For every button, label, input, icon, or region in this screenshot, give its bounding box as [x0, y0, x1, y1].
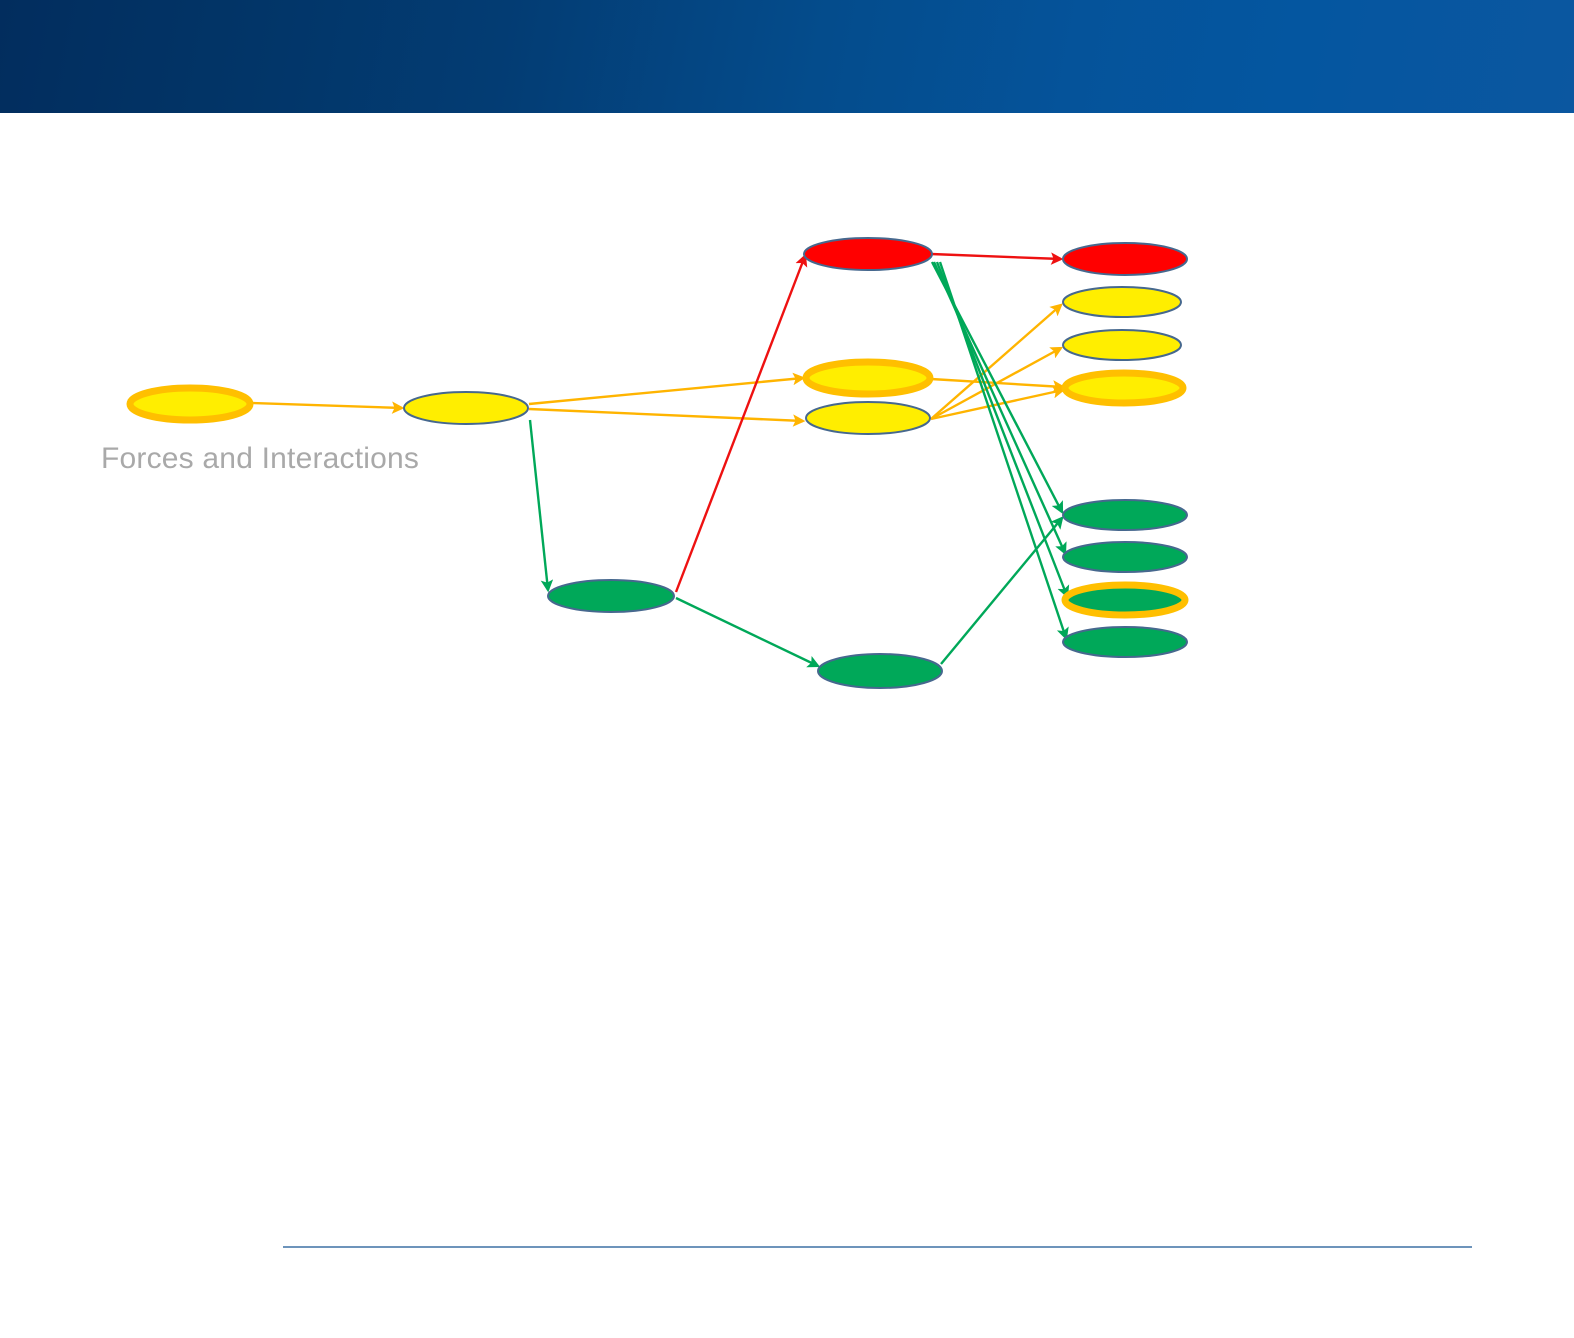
node-ellipse-n4[interactable] — [806, 362, 930, 394]
node-ellipse-n13[interactable] — [1063, 542, 1187, 572]
slide-canvas: Forces and Interactions — [0, 0, 1574, 1338]
node-ellipse-n11[interactable] — [1065, 373, 1183, 403]
footer-divider — [283, 1246, 1472, 1248]
edge-n7-to-n12 — [941, 518, 1062, 664]
node-ellipse-n9[interactable] — [1063, 287, 1181, 317]
node-ellipse-n12[interactable] — [1063, 500, 1187, 530]
concept-map-svg — [0, 0, 1574, 1338]
edge-n6-to-n3 — [676, 256, 805, 592]
diagram-caption: Forces and Interactions — [101, 442, 419, 476]
node-ellipse-n6[interactable] — [548, 580, 674, 612]
node-ellipse-n10[interactable] — [1063, 330, 1181, 360]
edge-n2-to-n5 — [529, 409, 803, 421]
edge-n1-to-n2 — [252, 403, 402, 408]
node-ellipse-n7[interactable] — [818, 654, 942, 688]
edge-n6-to-n7 — [676, 598, 818, 666]
edge-n2-to-n6 — [530, 420, 548, 590]
node-ellipse-n14[interactable] — [1065, 585, 1185, 615]
node-ellipse-n15[interactable] — [1063, 627, 1187, 657]
node-ellipse-n1[interactable] — [130, 388, 250, 420]
node-ellipse-n8[interactable] — [1063, 243, 1187, 275]
node-ellipse-n2[interactable] — [404, 392, 528, 424]
edge-n2-to-n4 — [529, 378, 803, 404]
node-ellipse-n5[interactable] — [806, 402, 930, 434]
diagram-canvas: Forces and Interactions — [0, 0, 1574, 1338]
node-ellipse-n3[interactable] — [804, 238, 932, 270]
edge-n3-to-n8 — [931, 254, 1061, 259]
